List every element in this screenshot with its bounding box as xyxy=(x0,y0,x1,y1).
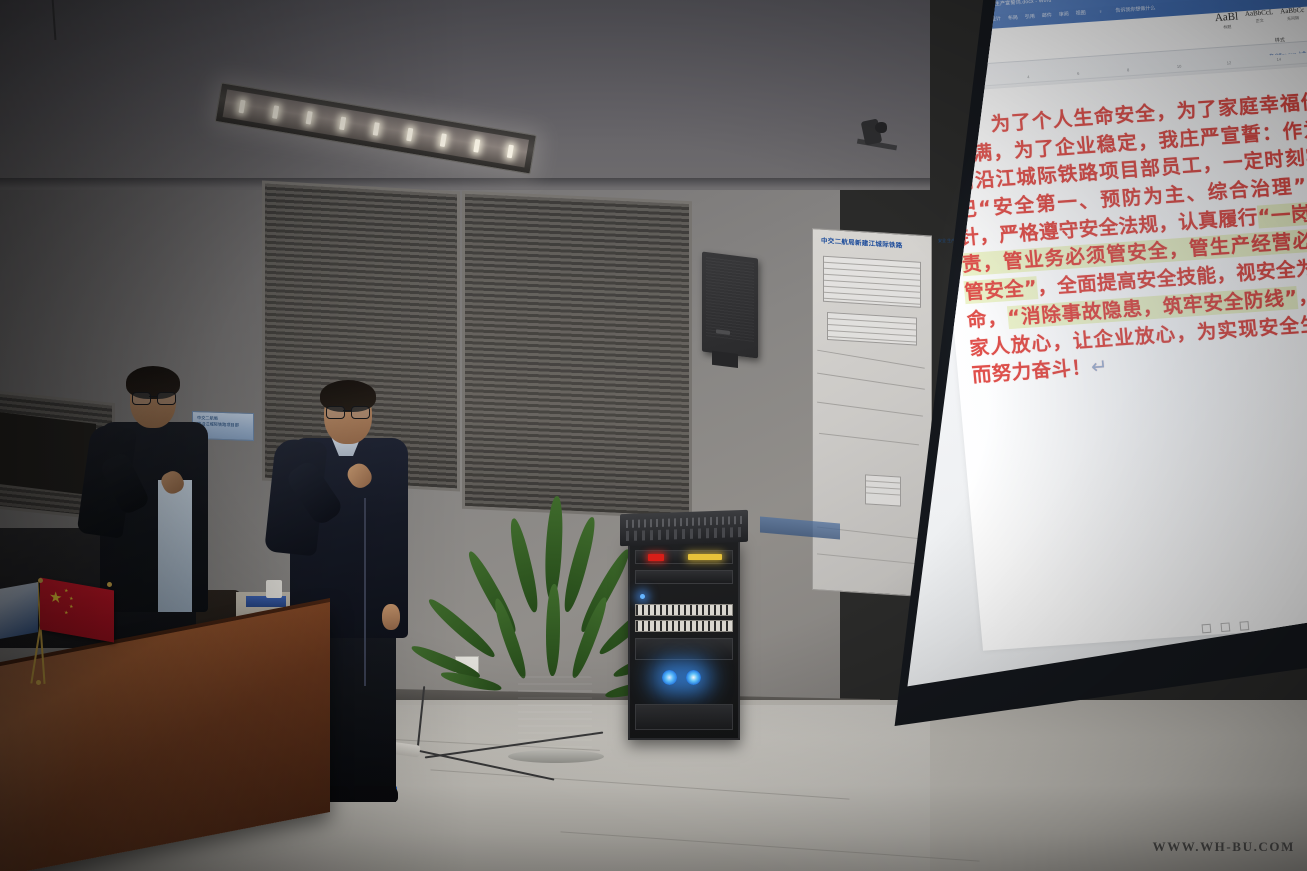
styles-group-label: 样式 xyxy=(1275,36,1286,44)
person-center-hand xyxy=(382,604,400,630)
person-left-shirt xyxy=(158,480,192,612)
ruler-mark-12: 12 xyxy=(1227,60,1232,65)
read-mode-icon[interactable] xyxy=(1202,624,1212,634)
print-layout-icon[interactable] xyxy=(1221,622,1231,632)
tell-me-search-input[interactable]: 告诉我你想做什么 xyxy=(1115,4,1156,14)
style-heading[interactable]: AaBl 标题 xyxy=(1214,12,1239,32)
window-center-right xyxy=(462,191,692,519)
person-center-zipper xyxy=(364,498,366,686)
rack-led-left xyxy=(662,670,677,685)
screen-surface: 安全生产宣誓词.docx - Word 文件 开始 插入 设计 布局 引用 邮件… xyxy=(894,0,1307,708)
audio-mixer xyxy=(620,510,748,546)
person-center-shoe-right xyxy=(354,786,398,802)
ruler-mark-6: 6 xyxy=(1077,71,1080,76)
style-nospacing[interactable]: AaBbCc 无间隔 xyxy=(1280,7,1305,23)
tab-view[interactable]: 视图 xyxy=(1075,9,1086,17)
desk-flag-stand: ★ ★ ★ ★ ★ xyxy=(2,556,122,686)
oath-text-body[interactable]: 为了个人生命安全，为了家庭幸福作圆满，为了企业稳定，我庄严宣誓：作为南沿江城际铁… xyxy=(948,88,1307,390)
ruler-mark-14: 14 xyxy=(1276,57,1281,62)
person-left-glasses-icon xyxy=(132,392,176,403)
plant-pot xyxy=(518,676,592,754)
web-layout-icon[interactable] xyxy=(1239,621,1249,631)
tab-references[interactable]: 引用 xyxy=(1025,13,1036,21)
wall-speaker xyxy=(702,252,758,359)
rack-led-right xyxy=(686,670,701,685)
equipment-rack xyxy=(628,540,740,740)
tab-home[interactable]: 开始 xyxy=(949,16,968,26)
style-heading-preview: AaBl xyxy=(1214,12,1238,25)
style-normal[interactable]: AaBbCcL 正文 xyxy=(1245,9,1275,25)
ruler-mark-8: 8 xyxy=(1127,67,1130,72)
paragraph-mark-icon: ↵ xyxy=(1090,355,1109,379)
photo-scene: 中交二航局新建江城际铁路 安全 生产 中交二航局 南沿江城际铁路项目部 xyxy=(0,0,1307,871)
china-national-flag: ★ ★ ★ ★ ★ xyxy=(40,577,114,642)
tell-me-search-icon[interactable]: ♀ xyxy=(1098,8,1102,14)
ruler-mark-4: 4 xyxy=(1027,74,1030,79)
person-center-glasses-icon xyxy=(326,406,372,417)
tab-review[interactable]: 审阅 xyxy=(1058,10,1069,18)
company-flag xyxy=(0,582,38,644)
plant-saucer xyxy=(508,750,604,763)
tab-layout[interactable]: 布局 xyxy=(1008,14,1019,22)
document-page[interactable]: 自动保存 已保存到此电脑 为了个人生命安全，为了家庭幸福作圆满，为了企业稳定，我… xyxy=(932,65,1307,651)
tab-file[interactable]: 文件 xyxy=(932,19,943,27)
flag-star-large: ★ xyxy=(49,589,62,606)
tab-mailings[interactable]: 邮件 xyxy=(1042,12,1053,20)
ceiling-edge xyxy=(0,178,930,188)
ruler-mark-10: 10 xyxy=(1177,64,1182,69)
style-nospacing-label: 无间隔 xyxy=(1281,15,1306,23)
projection-screen: 安全生产宣誓词.docx - Word 文件 开始 插入 设计 布局 引用 邮件… xyxy=(880,0,1307,746)
style-normal-label: 正文 xyxy=(1245,17,1274,25)
photo-watermark: WWW.WH-BU.COM xyxy=(1153,839,1295,855)
